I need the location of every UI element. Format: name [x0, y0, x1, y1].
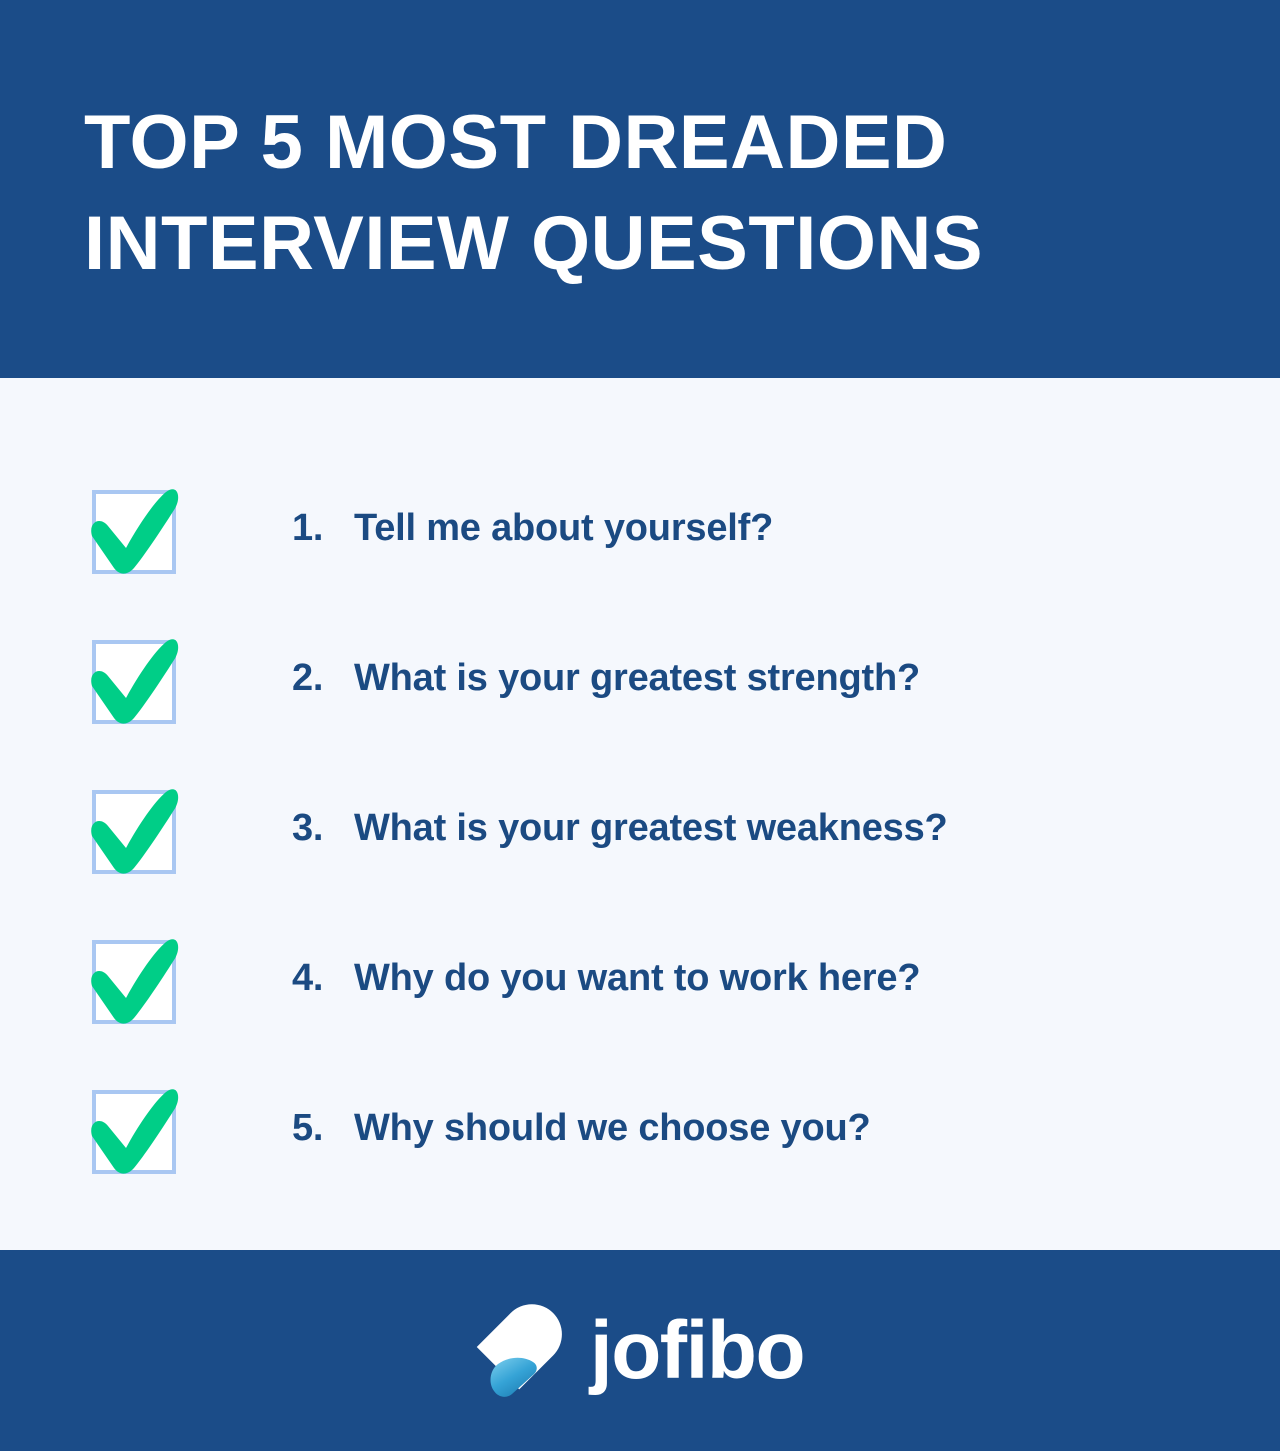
checkbox-checked-icon[interactable]	[86, 628, 182, 728]
header-banner: TOP 5 MOST DREADED INTERVIEW QUESTIONS	[0, 0, 1280, 378]
checkbox-square	[92, 490, 176, 574]
item-label: What is your greatest strength?	[354, 657, 920, 700]
item-number: 4.	[292, 957, 354, 1000]
question-text: 3. What is your greatest weakness?	[182, 807, 948, 850]
item-number: 3.	[292, 807, 354, 850]
checkbox-checked-icon[interactable]	[86, 478, 182, 578]
item-label: Tell me about yourself?	[354, 507, 773, 550]
questions-list: 1. Tell me about yourself? 2. What is yo…	[0, 453, 1280, 1203]
footer-banner: jofibo	[0, 1250, 1280, 1451]
list-item: 3. What is your greatest weakness?	[0, 753, 1280, 903]
item-label: Why should we choose you?	[354, 1107, 870, 1150]
checkbox-checked-icon[interactable]	[86, 928, 182, 1028]
page-title: TOP 5 MOST DREADED INTERVIEW QUESTIONS	[84, 92, 1200, 294]
jofibo-droplet-logo-icon	[476, 1301, 568, 1401]
questions-section: 1. Tell me about yourself? 2. What is yo…	[0, 378, 1280, 1250]
checkbox-square	[92, 790, 176, 874]
brand-name: jofibo	[590, 1310, 804, 1392]
checkbox-square	[92, 940, 176, 1024]
list-item: 1. Tell me about yourself?	[0, 453, 1280, 603]
checkbox-square	[92, 640, 176, 724]
checkbox-square	[92, 1090, 176, 1174]
checkbox-checked-icon[interactable]	[86, 778, 182, 878]
question-text: 2. What is your greatest strength?	[182, 657, 920, 700]
list-item: 5. Why should we choose you?	[0, 1053, 1280, 1203]
question-text: 5. Why should we choose you?	[182, 1107, 870, 1150]
question-text: 4. Why do you want to work here?	[182, 957, 920, 1000]
infographic-poster: TOP 5 MOST DREADED INTERVIEW QUESTIONS 1…	[0, 0, 1280, 1451]
brand-logo[interactable]: jofibo	[476, 1301, 804, 1401]
item-number: 1.	[292, 507, 354, 550]
item-label: Why do you want to work here?	[354, 957, 920, 1000]
item-label: What is your greatest weakness?	[354, 807, 948, 850]
list-item: 2. What is your greatest strength?	[0, 603, 1280, 753]
item-number: 2.	[292, 657, 354, 700]
item-number: 5.	[292, 1107, 354, 1150]
list-item: 4. Why do you want to work here?	[0, 903, 1280, 1053]
checkbox-checked-icon[interactable]	[86, 1078, 182, 1178]
question-text: 1. Tell me about yourself?	[182, 507, 773, 550]
